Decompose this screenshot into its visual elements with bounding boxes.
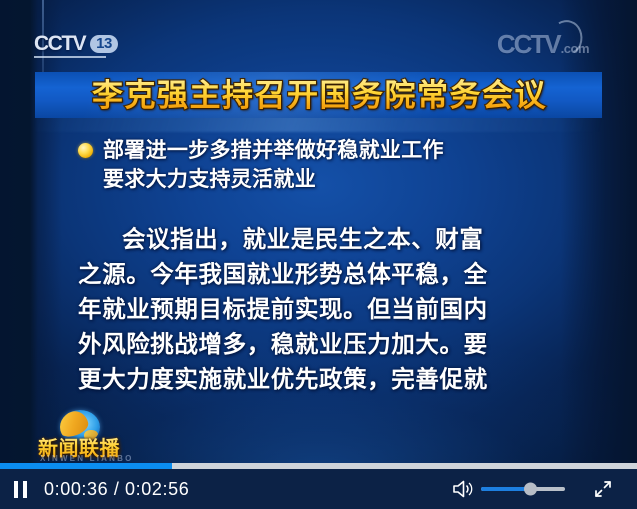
pause-icon-bar-2 <box>23 481 27 498</box>
headline-banner: 李克强主持召开国务院常务会议 李克强主持召开国务院常务会议 <box>35 72 602 118</box>
volume-slider-fill <box>481 487 530 491</box>
video-player: CCTV 13 CCTV .com 新闻 李克强主持召开国务院常务会议 李克强主… <box>0 0 637 509</box>
bullet-text-1: 部署进一步多措并举做好稳就业工作 <box>103 136 444 165</box>
bullet-text-2: 要求大力支持灵活就业 <box>103 165 578 194</box>
control-row: 0:00:36 / 0:02:56 <box>0 469 637 509</box>
body-line-4: 外风险挑战增多，稳就业压力加大。要 <box>78 327 548 362</box>
program-pinyin-label: XINWEN LIANBO <box>40 454 134 463</box>
volume-slider-handle[interactable] <box>524 483 537 496</box>
time-display: 0:00:36 / 0:02:56 <box>44 479 189 500</box>
video-stage[interactable]: CCTV 13 CCTV .com 新闻 李克强主持召开国务院常务会议 李克强主… <box>0 0 637 463</box>
body-line-5: 更大力度实施就业优先政策，完善促就 <box>78 362 548 397</box>
player-control-bar: 0:00:36 / 0:02:56 <box>0 463 637 509</box>
bullet-summary: 部署进一步多措并举做好稳就业工作 要求大力支持灵活就业 <box>78 136 578 194</box>
headline-text: 李克强主持召开国务院常务会议 <box>92 74 602 118</box>
bullet-item: 部署进一步多措并举做好稳就业工作 <box>78 136 578 165</box>
bullet-dot-icon <box>78 143 93 158</box>
fullscreen-icon <box>593 479 613 499</box>
body-paragraph: 会议指出，就业是民生之本、财富 之源。今年我国就业形势总体平稳，全 年就业预期目… <box>78 222 548 397</box>
channel-number-badge: 13 <box>90 35 118 54</box>
channel-bug: CCTV 13 <box>34 32 118 56</box>
speaker-icon[interactable] <box>451 478 477 500</box>
channel-network-label: CCTV <box>34 32 85 56</box>
body-line-3: 年就业预期目标提前实现。但当前国内 <box>78 292 548 327</box>
program-logo: 新闻联播 XINWEN LIANBO <box>30 410 150 463</box>
pause-button[interactable] <box>0 469 40 509</box>
fullscreen-button[interactable] <box>583 469 623 509</box>
body-line-2: 之源。今年我国就业形势总体平稳，全 <box>78 257 548 292</box>
channel-bug-underline <box>34 56 106 58</box>
volume-control[interactable] <box>451 478 565 500</box>
body-line-1: 会议指出，就业是民生之本、财富 <box>78 222 548 257</box>
volume-slider[interactable] <box>481 487 565 491</box>
pause-icon <box>14 481 18 498</box>
